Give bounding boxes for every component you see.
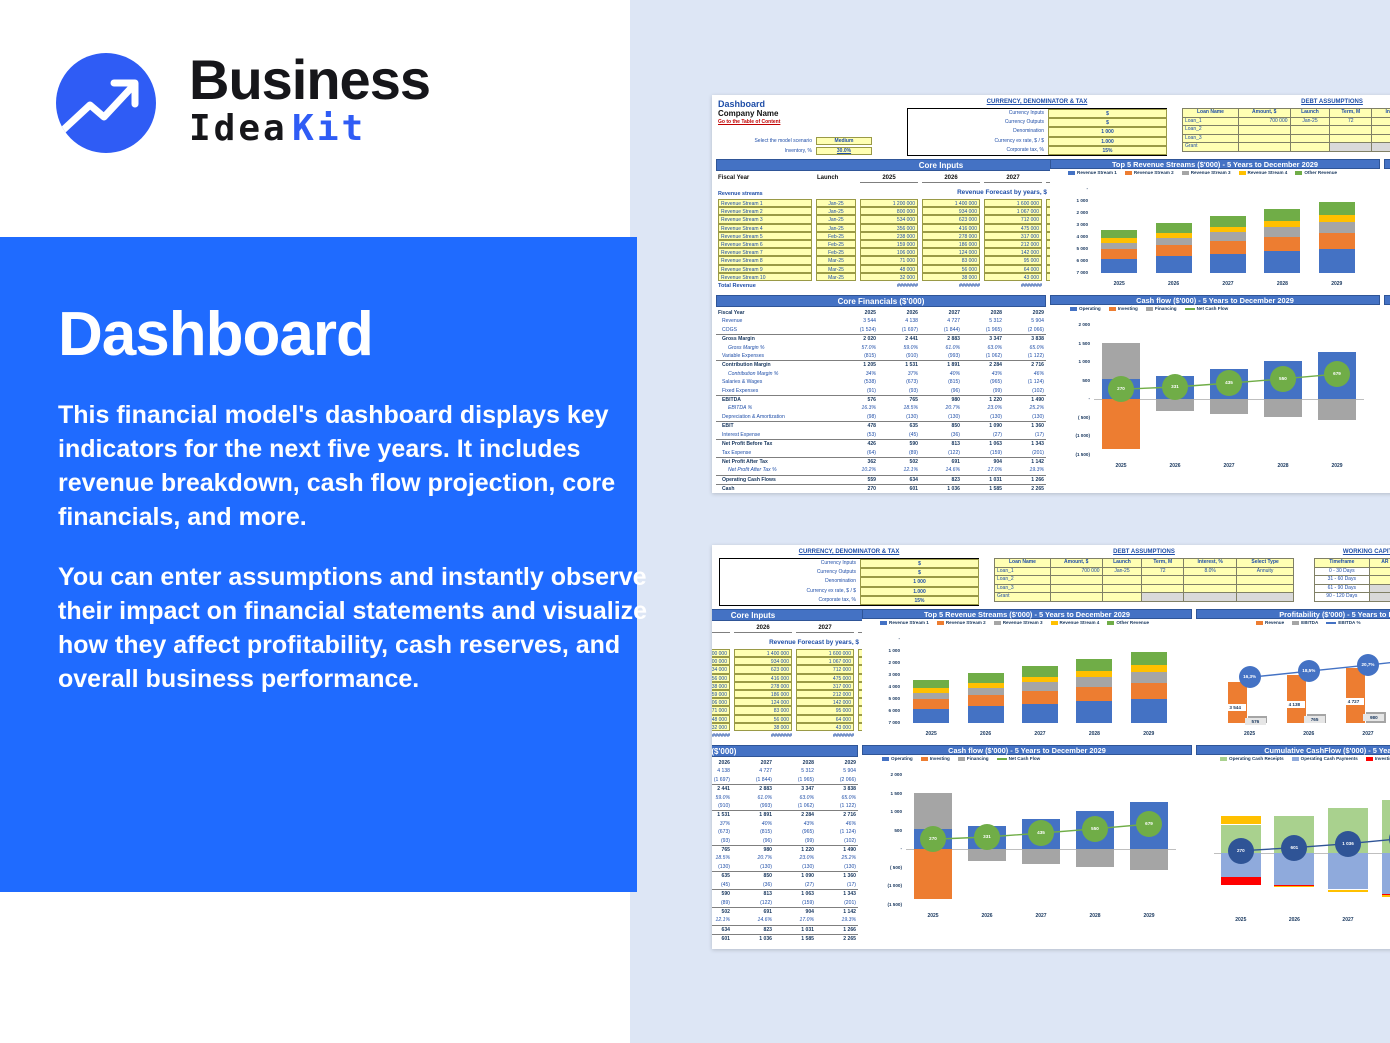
revenue-stream-value[interactable]: 278 000 — [922, 232, 980, 240]
revenue-stream-value[interactable]: 186 000 — [922, 240, 980, 248]
financials-cell: (130) — [732, 863, 774, 872]
revenue-stream-value[interactable]: 32 000 — [712, 723, 730, 731]
revenue-stream-value[interactable]: 95 000 — [984, 256, 1042, 264]
revenue-stream-value[interactable]: 106 000 — [860, 248, 918, 256]
financials-cell: (93) — [878, 387, 920, 396]
revenue-stream-value[interactable]: 278 000 — [734, 682, 792, 690]
revenue-stream-name[interactable]: Revenue Stream 10 — [718, 273, 812, 281]
revenue-stream-value[interactable]: 934 000 — [922, 207, 980, 215]
currency-row-value[interactable]: 1.000 — [1048, 137, 1167, 146]
debt-cell[interactable] — [1142, 576, 1184, 585]
revenue-stream-value[interactable]: 64 000 — [984, 265, 1042, 273]
revenue-stream-value[interactable]: 356 000 — [712, 674, 730, 682]
revenue-stream-value[interactable]: 712 000 — [796, 665, 854, 673]
legend-item: Revenue Stream 1 — [1068, 170, 1117, 175]
debt-cell[interactable]: 8.0% — [1372, 117, 1390, 126]
inputs-year-header: 2026 — [922, 175, 980, 183]
currency-row-value[interactable]: 15% — [860, 596, 979, 605]
revenue-stream-launch[interactable]: Mar-25 — [816, 273, 856, 281]
revenue-stream-name[interactable]: Revenue Stream 7 — [718, 248, 812, 256]
bar-segment — [1228, 682, 1247, 723]
revenue-stream-value[interactable]: 38 000 — [922, 273, 980, 281]
revenue-stream-name[interactable]: Revenue Stream 5 — [718, 232, 812, 240]
debt-cell[interactable] — [1050, 584, 1102, 593]
revenue-stream-value[interactable]: 1 600 000 — [796, 649, 854, 657]
revenue-stream-value[interactable]: 83 000 — [922, 256, 980, 264]
revenue-stream-name[interactable]: Revenue Stream 6 — [718, 240, 812, 248]
financials-cell: 57.0% — [836, 344, 878, 352]
revenue-stream-value[interactable]: 1 400 000 — [922, 199, 980, 207]
debt-cell[interactable]: 72 — [1330, 117, 1372, 126]
core-financials-banner: Core Financials ($'000) — [712, 745, 858, 757]
debt-col-header: Loan Name — [995, 559, 1051, 568]
financials-cell: 1 585 — [774, 935, 816, 944]
revenue-stream-value[interactable]: 1 400 000 — [734, 649, 792, 657]
financials-row-label: Gross Margin — [716, 335, 836, 344]
debt-cell[interactable]: Jan-25 — [1102, 567, 1142, 576]
revenue-stream-value[interactable]: 238 000 — [860, 232, 918, 240]
debt-cell[interactable]: Loan_3 — [995, 584, 1051, 593]
currency-row-value[interactable]: $ — [860, 559, 979, 568]
revenue-stream-launch[interactable]: Feb-25 — [816, 248, 856, 256]
revenue-stream-launch[interactable]: Jan-25 — [816, 199, 856, 207]
debt-cell[interactable] — [1372, 134, 1390, 143]
legend-item: Net Cash Flow — [1185, 306, 1229, 311]
revenue-stream-value[interactable]: 43 000 — [796, 723, 854, 731]
x-axis-category: 2026 — [1148, 463, 1202, 469]
debt-cell[interactable] — [1330, 143, 1372, 152]
legend-label: Revenue Stream 3 — [1191, 170, 1231, 175]
bar-segment — [1221, 816, 1261, 824]
core-financials-wrap: Fiscal Year20252026202720282029Revenue3 … — [712, 759, 858, 944]
revenue-stream-value[interactable]: 238 000 — [712, 682, 730, 690]
revenue-stream-value[interactable]: 56 000 — [922, 265, 980, 273]
revenue-stream-value[interactable]: 1 600 000 — [984, 199, 1042, 207]
revenue-stream-name[interactable]: Revenue Stream 8 — [718, 256, 812, 264]
revenue-stream-launch[interactable]: Mar-25 — [816, 256, 856, 264]
bar-segment — [1319, 222, 1355, 233]
debt-cell[interactable] — [1102, 584, 1142, 593]
wc-cell[interactable]: 61 - 90 Days — [1315, 584, 1370, 593]
financials-row-label: EBIT — [716, 422, 836, 431]
debt-cell[interactable] — [1372, 143, 1390, 152]
financials-row: Net Profit After Tax %10.2%12.1%14.6%17.… — [712, 916, 858, 925]
debt-cell[interactable] — [1330, 126, 1372, 135]
bar-segment — [1264, 399, 1302, 417]
revenue-stream-value[interactable]: 159 000 — [712, 690, 730, 698]
debt-cell[interactable]: Annuity — [1237, 567, 1294, 576]
revenue-stream-value[interactable]: 1 067 000 — [796, 657, 854, 665]
wc-cell[interactable]: 0% — [1369, 593, 1390, 602]
financials-cell: (102) — [816, 837, 858, 846]
debt-header-row: Loan NameAmount, $LaunchTerm, MInterest,… — [1183, 109, 1390, 118]
debt-cell[interactable]: Loan_2 — [1183, 126, 1239, 135]
financials-cell: 17.0% — [774, 916, 816, 925]
debt-cell[interactable] — [1290, 126, 1330, 135]
financials-cell: (1 524) — [836, 326, 878, 335]
financials-cell: 61.0% — [920, 344, 962, 352]
financials-cell: 23.0% — [962, 404, 1004, 412]
legend-swatch — [1070, 307, 1077, 311]
revenue-stream-launch[interactable]: Mar-25 — [816, 265, 856, 273]
financials-cell: 59.0% — [712, 794, 732, 802]
revenue-stream-value[interactable]: 356 000 — [860, 224, 918, 232]
x-axis-category: 2029 — [1122, 913, 1176, 919]
financials-cell: 2 265 — [1004, 485, 1046, 493]
legend-item: Revenue Stream 2 — [937, 620, 986, 625]
revenue-stream-value[interactable]: 212 000 — [984, 240, 1042, 248]
revenue-stream-value[interactable]: 317 000 — [984, 232, 1042, 240]
data-point-bubble: 435 — [1028, 820, 1054, 846]
bar-segment — [1076, 659, 1112, 671]
debt-col-header: Amount, $ — [1050, 559, 1102, 568]
revenue-stream-value[interactable]: 1 200 000 — [860, 199, 918, 207]
debt-cell[interactable] — [1237, 576, 1294, 585]
debt-cell[interactable] — [1238, 126, 1290, 135]
financials-cell: 601 — [712, 935, 732, 944]
financials-row: Tax Expense(64)(89)(122)(159)(201) — [712, 899, 858, 908]
revenue-stream-value[interactable]: 712 000 — [984, 215, 1042, 223]
revenue-stream-value[interactable]: 317 000 — [796, 682, 854, 690]
debt-cell[interactable] — [1330, 134, 1372, 143]
revenue-stream-value[interactable]: 159 000 — [860, 240, 918, 248]
financials-cell: (130) — [962, 413, 1004, 422]
data-point-bubble: 331 — [1162, 374, 1188, 400]
revenue-stream-name[interactable]: Revenue Stream 2 — [718, 207, 812, 215]
legend-swatch — [1109, 307, 1116, 311]
revenue-stream-value[interactable]: 534 000 — [712, 665, 730, 673]
financials-cell: (1 844) — [732, 776, 774, 785]
financials-row-label: Depreciation & Amortization — [716, 413, 836, 422]
financials-cell: 850 — [732, 872, 774, 881]
currency-row-label: Currency ex rate, $ / $ — [908, 138, 1044, 145]
financials-cell: (1 124) — [816, 828, 858, 836]
legend-swatch — [1220, 757, 1227, 761]
financials-cell: 1 360 — [816, 872, 858, 881]
financials-cell: 691 — [920, 457, 962, 466]
revenue-stream-value[interactable]: 32 000 — [860, 273, 918, 281]
revenue-stream-value[interactable]: 142 000 — [984, 248, 1042, 256]
financials-row: COGS(1 524)(1 697)(1 844)(1 965)(2 066) — [716, 326, 1046, 335]
revenue-stream-value[interactable]: 623 000 — [922, 215, 980, 223]
revenue-stream-value[interactable]: 800 000 — [860, 207, 918, 215]
legend-label: Operating — [1079, 306, 1101, 311]
financials-row: EBIT4786358501 0901 360 — [716, 422, 1046, 431]
debt-cell[interactable]: 8.0% — [1184, 567, 1237, 576]
bar-segment — [1101, 259, 1137, 273]
currency-row-value[interactable]: 1.000 — [860, 587, 979, 596]
revenue-stream-value[interactable]: 124 000 — [734, 698, 792, 706]
debt-cell[interactable] — [1184, 584, 1237, 593]
wc-cell[interactable]: 0 - 30 Days — [1315, 567, 1370, 576]
financials-cell: (130) — [878, 413, 920, 422]
debt-col-header: Loan Name — [1183, 109, 1239, 118]
bar-segment — [1319, 202, 1355, 215]
top5-revenue-chart-title: Top 5 Revenue Streams ($'000) - 5 Years … — [1050, 159, 1380, 169]
financials-row: Net Profit Before Tax4265908131 0631 343 — [716, 440, 1046, 449]
revenue-stream-value[interactable]: 95 000 — [796, 706, 854, 714]
page-title: Dashboard — [58, 300, 658, 370]
wc-col-header: Timeframe — [1315, 559, 1370, 568]
financials-cell: (673) — [712, 828, 732, 836]
inputs-year-header: 2025 — [860, 175, 918, 183]
y-axis-tick: 7 000 — [874, 720, 900, 725]
debt-cell[interactable] — [1238, 143, 1290, 152]
revenue-stream-value[interactable]: 124 000 — [922, 248, 980, 256]
table-of-contents-link[interactable]: Go to the Table of Content — [718, 119, 780, 125]
bar-data-label: 980 — [1363, 714, 1384, 721]
debt-cell[interactable] — [1238, 134, 1290, 143]
debt-cell[interactable]: Loan_2 — [995, 576, 1051, 585]
revenue-stream-value[interactable]: 416 000 — [734, 674, 792, 682]
debt-cell[interactable] — [1102, 593, 1142, 602]
financials-cell: 1 063 — [774, 890, 816, 899]
bar-segment — [914, 849, 952, 899]
x-axis-category: 2028 — [1256, 463, 1310, 469]
debt-cell[interactable] — [1184, 593, 1237, 602]
financials-row: Cash2706011 0361 5852 265 — [716, 485, 1046, 493]
revenue-stream-value[interactable]: 416 000 — [922, 224, 980, 232]
x-axis-category: 2028 — [1255, 281, 1309, 287]
financials-cell: 502 — [878, 457, 920, 466]
currency-row: Denomination1 000 — [720, 577, 978, 586]
financials-cell: (17) — [1004, 431, 1046, 440]
bar-segment — [1264, 209, 1300, 221]
financials-cell: 2 284 — [962, 361, 1004, 370]
financials-cell: (99) — [774, 837, 816, 846]
financials-row: Revenue3 5444 1384 7275 3125 904 — [712, 767, 858, 775]
legend-swatch — [880, 621, 887, 625]
financials-row: Salaries & Wages(538)(673)(815)(965)(1 1… — [716, 378, 1046, 386]
revenue-stream-value[interactable]: 56 000 — [734, 715, 792, 723]
y-axis-tick: ( 500) — [1064, 415, 1090, 420]
revenue-stream-value[interactable]: 186 000 — [734, 690, 792, 698]
debt-cell[interactable] — [1237, 593, 1294, 602]
debt-cell[interactable]: Loan_1 — [995, 567, 1051, 576]
bar-segment — [1131, 699, 1167, 723]
legend-swatch — [882, 757, 889, 761]
financials-year-header: 2027 — [920, 309, 962, 317]
x-axis-category: 2025 — [1220, 731, 1279, 737]
revenue-stream-name[interactable]: Revenue Stream 1 — [718, 199, 812, 207]
revenue-stream-value[interactable]: 475 000 — [796, 674, 854, 682]
y-axis-tick: (1 000) — [876, 883, 902, 888]
legend-swatch — [1125, 171, 1132, 175]
bar-segment — [1022, 666, 1058, 676]
scenario-select[interactable]: Medium — [816, 137, 872, 145]
legend-item: Operating Cash Receipts — [1220, 756, 1284, 761]
debt-cell[interactable] — [1050, 593, 1102, 602]
revenue-stream-value[interactable]: 142 000 — [796, 698, 854, 706]
revenue-stream-name[interactable]: Revenue Stream 9 — [718, 265, 812, 273]
financials-row-label: Cash — [716, 485, 836, 493]
cumulative-cashflow-chart: Cumulative CashFlow ($'000) - 5 Years to… — [1384, 295, 1390, 485]
revenue-stream-value[interactable]: 1 067 000 — [984, 207, 1042, 215]
revenue-stream-value[interactable]: 212 000 — [796, 690, 854, 698]
wc-cell[interactable]: 0% — [1369, 584, 1390, 593]
legend-label: Revenue Stream 1 — [1077, 170, 1117, 175]
financials-cell: (673) — [878, 378, 920, 386]
financials-row: Operating Cash Flows5596348231 0311 266 — [712, 925, 858, 934]
y-axis-tick: (1 000) — [1064, 433, 1090, 438]
currency-row-value[interactable]: 1 000 — [1048, 127, 1167, 136]
financials-cell: (815) — [836, 352, 878, 361]
revenue-stream-value[interactable]: 1 200 000 — [712, 649, 730, 657]
financials-cell: (1 062) — [774, 802, 816, 811]
financials-row: Contribution Margin1 2051 5311 8912 2842… — [716, 361, 1046, 370]
debt-cell[interactable] — [1142, 584, 1184, 593]
financials-cell: 1 090 — [774, 872, 816, 881]
debt-cell[interactable] — [1290, 134, 1330, 143]
bar-segment — [1319, 249, 1355, 273]
currency-row-value[interactable]: 1 000 — [860, 577, 979, 586]
debt-cell[interactable]: Jan-25 — [1290, 117, 1330, 126]
revenue-stream-value[interactable]: 43 000 — [984, 273, 1042, 281]
financials-cell: (1 062) — [962, 352, 1004, 361]
revenue-stream-value[interactable]: 83 000 — [734, 706, 792, 714]
revenue-stream-value[interactable]: 623 000 — [734, 665, 792, 673]
debt-cell[interactable]: Grant — [1183, 143, 1239, 152]
legend-label: Financing — [1155, 306, 1177, 311]
wc-cell[interactable]: 90 - 120 Days — [1315, 593, 1370, 602]
currency-row-label: Denomination — [908, 128, 1044, 135]
financials-cell: 2 265 — [816, 935, 858, 944]
financials-row: Contribution Margin1 2051 5311 8912 2842… — [712, 811, 858, 820]
currency-row: Currency ex rate, $ / $1.000 — [908, 137, 1166, 146]
debt-cell[interactable]: 700 000 — [1238, 117, 1290, 126]
revenue-stream-launch[interactable]: Feb-25 — [816, 240, 856, 248]
financials-cell: (1 697) — [712, 776, 732, 785]
financials-cell: 635 — [712, 872, 732, 881]
revenue-stream-value[interactable]: 48 000 — [712, 715, 730, 723]
brand-name-line1: Business — [189, 51, 430, 109]
financials-year-header: 2029 — [1004, 309, 1046, 317]
wc-cell[interactable]: 60% — [1369, 567, 1390, 576]
currency-row-value[interactable]: $ — [1048, 109, 1167, 118]
revenue-stream-value[interactable]: 38 000 — [734, 723, 792, 731]
legend-item: Revenue Stream 3 — [1182, 170, 1231, 175]
debt-cell[interactable] — [1102, 576, 1142, 585]
revenue-stream-launch[interactable]: Jan-25 — [816, 207, 856, 215]
financials-cell: 37% — [878, 370, 920, 378]
revenue-stream-value[interactable]: 48 000 — [860, 265, 918, 273]
wc-cell[interactable]: 31 - 60 Days — [1315, 576, 1370, 585]
revenue-stream-name[interactable]: Revenue Stream 3 — [718, 215, 812, 223]
financials-cell: 1 266 — [1004, 475, 1046, 484]
financials-cell: (122) — [732, 899, 774, 908]
currency-row-value[interactable]: $ — [1048, 118, 1167, 127]
financials-cell: 34% — [836, 370, 878, 378]
financials-cell: (815) — [920, 378, 962, 386]
currency-row: Currency ex rate, $ / $1.000 — [720, 587, 978, 596]
legend-swatch — [958, 757, 965, 761]
debt-cell[interactable]: 700 000 — [1050, 567, 1102, 576]
debt-cell[interactable]: 72 — [1142, 567, 1184, 576]
bar-segment — [1264, 221, 1300, 227]
data-point-bubble: 270 — [1228, 838, 1254, 864]
y-axis-tick: 3 000 — [874, 672, 900, 677]
bar-segment — [1022, 677, 1058, 683]
cash-flow-chart-title: Cash flow ($'000) - 5 Years to December … — [1050, 295, 1380, 305]
financials-cell: (27) — [774, 881, 816, 890]
revenue-stream-value[interactable]: 64 000 — [796, 715, 854, 723]
currency-row: Currency Inputs$ — [720, 559, 978, 568]
core-financials-table: Fiscal Year20252026202720282029Revenue3 … — [712, 759, 858, 944]
revenue-stream-value[interactable]: 71 000 — [860, 256, 918, 264]
revenue-stream-value[interactable]: 475 000 — [984, 224, 1042, 232]
revenue-stream-launch[interactable]: Jan-25 — [816, 224, 856, 232]
legend-label: Operating Cash Payments — [1301, 756, 1358, 761]
financials-cell: 2 441 — [878, 335, 920, 344]
debt-col-header: Term, M — [1330, 109, 1372, 118]
bar-segment — [1156, 223, 1192, 232]
financials-row: Gross Margin %57.0%59.0%61.0%63.0%65.0% — [712, 794, 858, 802]
currency-row-value[interactable]: 15% — [1048, 146, 1167, 155]
financials-cell: (89) — [712, 899, 732, 908]
financials-cell: (99) — [962, 387, 1004, 396]
financials-cell: 16.3% — [836, 404, 878, 412]
bar-segment — [1131, 665, 1167, 672]
bar-segment — [1210, 232, 1246, 241]
debt-cell[interactable]: Loan_3 — [1183, 134, 1239, 143]
revenue-stream-value[interactable]: 534 000 — [860, 215, 918, 223]
cumulative-cashflow-chart-title: Cumulative CashFlow ($'000) - 5 Years to… — [1196, 745, 1390, 755]
financials-fiscal-year-label: Fiscal Year — [716, 309, 836, 317]
bar-segment — [1382, 853, 1390, 894]
financials-cell: 12.1% — [878, 466, 920, 475]
revenue-stream-value[interactable]: 106 000 — [712, 698, 730, 706]
financials-cell: 25.2% — [816, 854, 858, 862]
financials-year-header: 2026 — [712, 759, 732, 767]
debt-col-header: Interest, % — [1184, 559, 1237, 568]
debt-cell[interactable]: Grant — [995, 593, 1051, 602]
revenue-stream-launch[interactable]: Feb-25 — [816, 232, 856, 240]
y-axis-tick: - — [1064, 396, 1090, 401]
revenue-stream-name[interactable]: Revenue Stream 4 — [718, 224, 812, 232]
financials-cell: 980 — [920, 396, 962, 405]
revenue-stream-launch[interactable]: Jan-25 — [816, 215, 856, 223]
debt-cell[interactable] — [1372, 126, 1390, 135]
revenue-stream-value[interactable]: 800 000 — [712, 657, 730, 665]
debt-cell[interactable] — [1050, 576, 1102, 585]
debt-cell[interactable] — [1142, 593, 1184, 602]
financials-row-label: Variable Expenses — [716, 352, 836, 361]
data-point-bubble: 550 — [1082, 816, 1108, 842]
financials-row-label: EBITDA % — [716, 404, 836, 412]
x-axis-category: 2027 — [1014, 913, 1068, 919]
hero-paragraph-1: This financial model's dashboard display… — [58, 398, 658, 534]
debt-cell[interactable] — [1237, 584, 1294, 593]
debt-cell[interactable] — [1290, 143, 1330, 152]
legend-swatch — [1185, 308, 1195, 310]
data-point-bubble: 550 — [1270, 366, 1296, 392]
revenue-stream-value[interactable]: 71 000 — [712, 706, 730, 714]
legend-label: Net Cash Flow — [1197, 306, 1229, 311]
financials-cell: 4 138 — [878, 317, 920, 325]
total-revenue-value: ####### — [984, 283, 1042, 289]
debt-cell[interactable]: Loan_1 — [1183, 117, 1239, 126]
revenue-stream-value[interactable]: 934 000 — [734, 657, 792, 665]
financials-cell: 59.0% — [878, 344, 920, 352]
y-axis-tick: - — [874, 636, 900, 641]
debt-cell[interactable] — [1184, 576, 1237, 585]
inventory-input[interactable]: 30.0% — [816, 147, 872, 155]
financials-cell: 2 883 — [920, 335, 962, 344]
financials-cell: 1 531 — [878, 361, 920, 370]
wc-cell[interactable]: 40% — [1369, 576, 1390, 585]
financials-cell: (201) — [816, 899, 858, 908]
currency-row-value[interactable]: $ — [860, 568, 979, 577]
